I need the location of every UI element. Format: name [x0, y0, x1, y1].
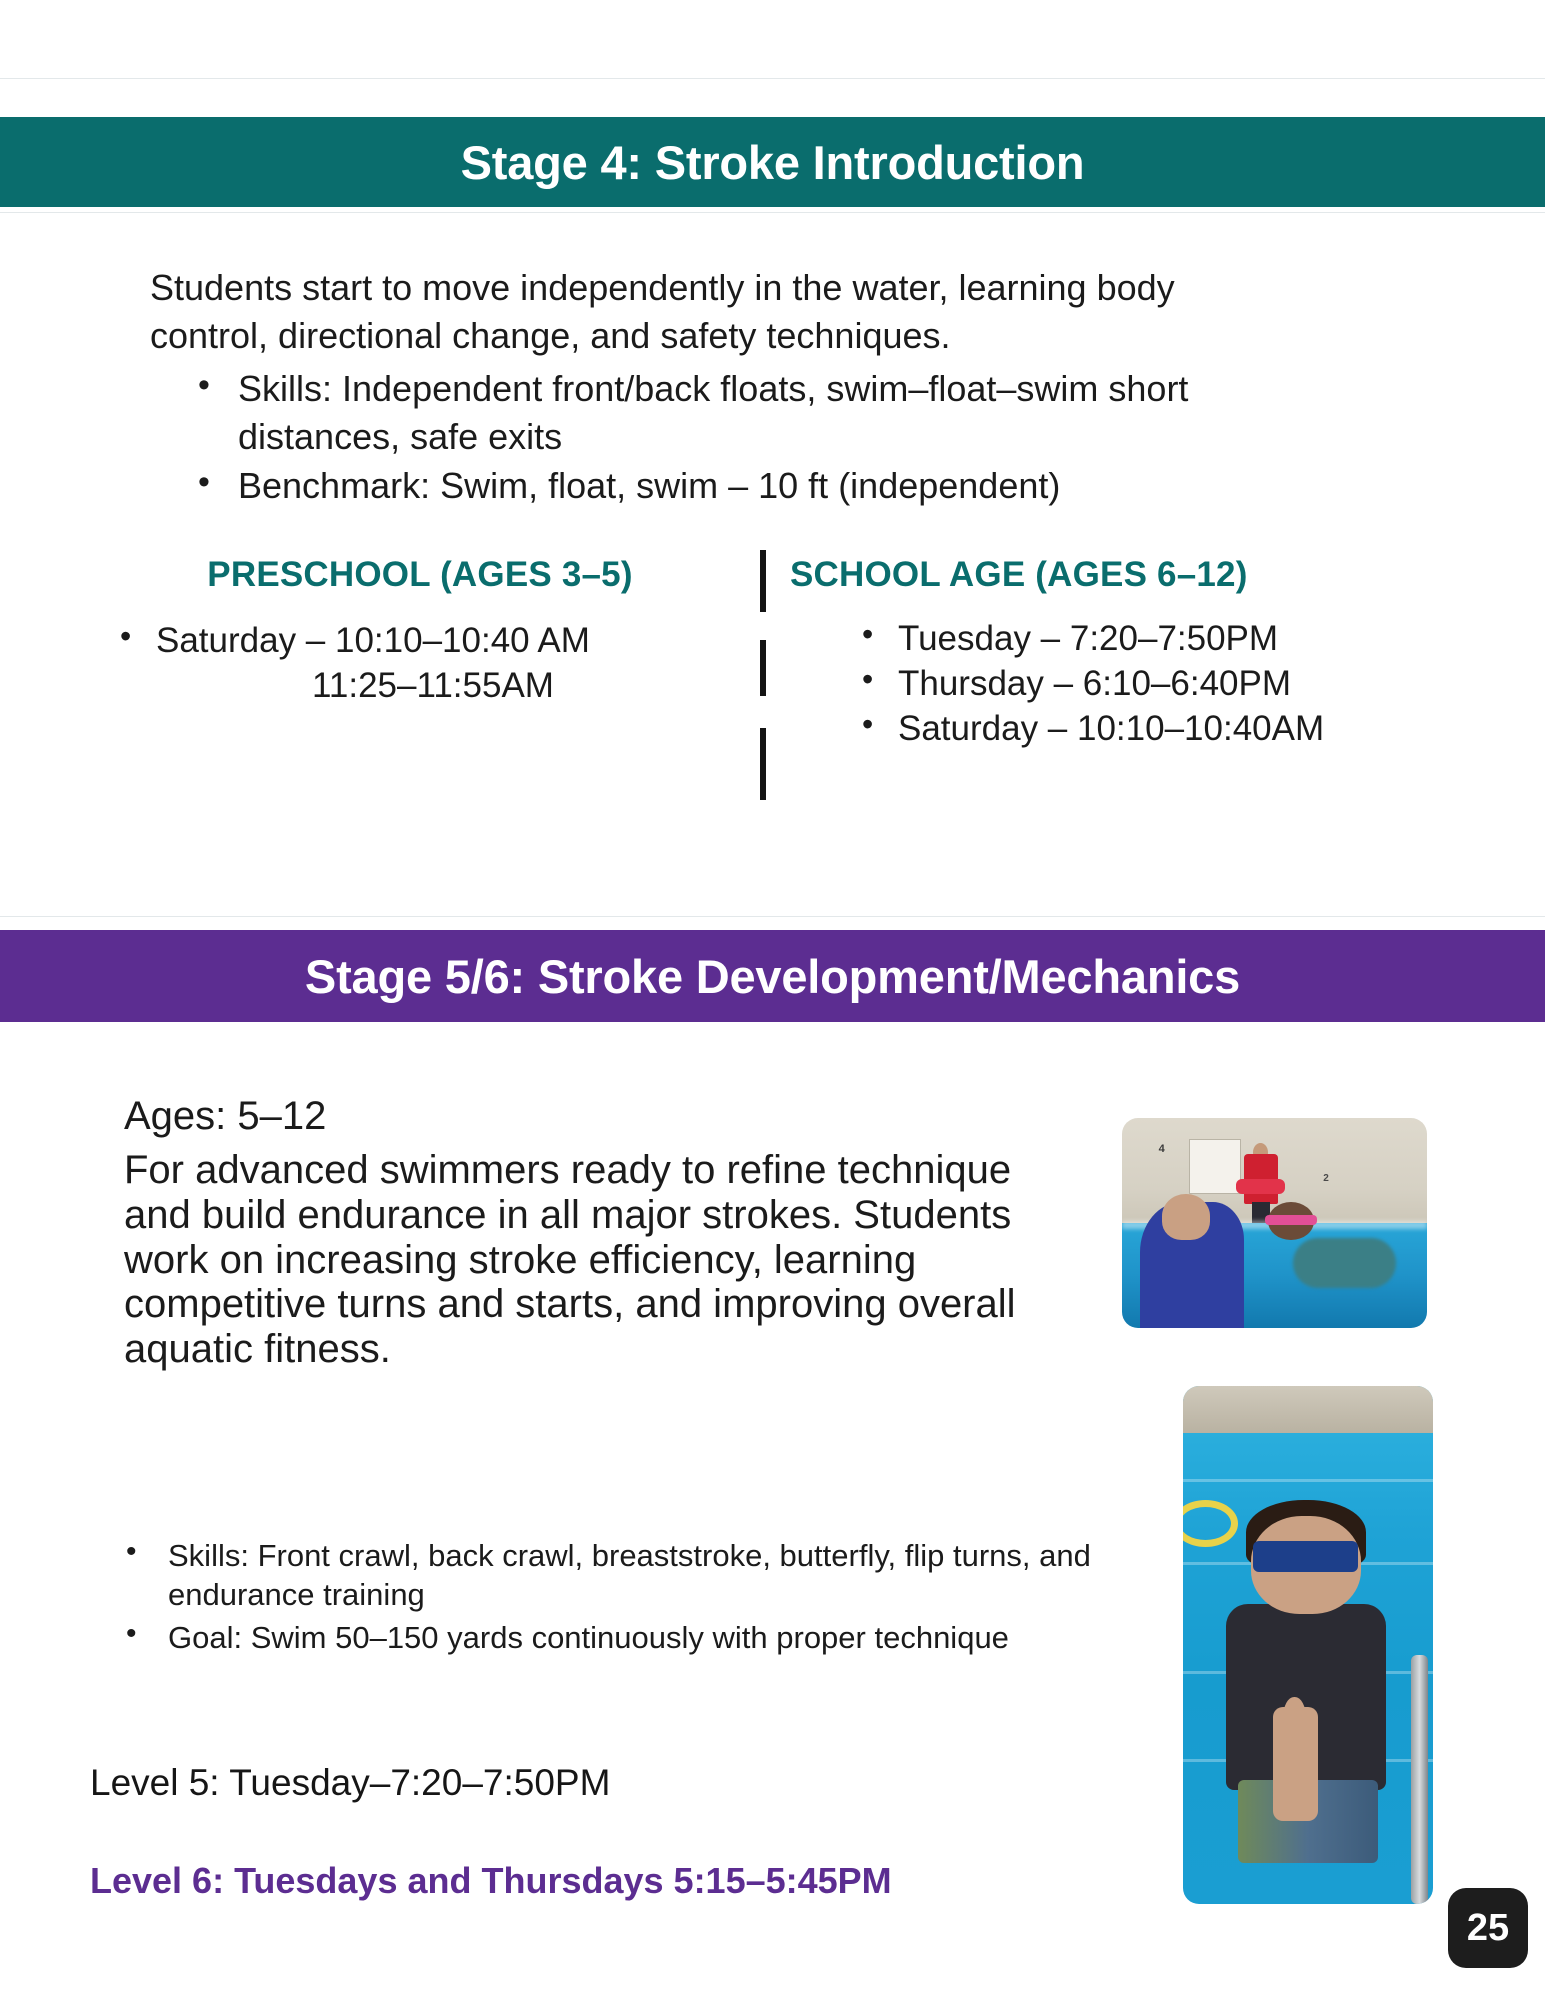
list-item: Skills: Front crawl, back crawl, breasts…	[120, 1536, 1120, 1614]
page-number-badge: 25	[1448, 1888, 1528, 1968]
divider-segment	[760, 550, 766, 612]
water-ripple	[1183, 1479, 1433, 1482]
list-item: Saturday – 10:10–10:40AM	[842, 707, 1490, 752]
list-item: Saturday – 10:10–10:40 AM 11:25–11:55AM	[100, 619, 750, 709]
top-hairline	[0, 78, 1545, 79]
child-goggles	[1265, 1215, 1317, 1226]
preschool-heading: PRESCHOOL (AGES 3–5)	[60, 555, 750, 595]
pool-deck-edge	[1183, 1386, 1433, 1433]
below-teal-hairline	[0, 212, 1545, 213]
stage4-schedule-columns: PRESCHOOL (AGES 3–5) Saturday – 10:10–10…	[0, 555, 1545, 825]
stage56-bullet-list: Skills: Front crawl, back crawl, breasts…	[120, 1536, 1120, 1661]
preschool-column: PRESCHOOL (AGES 3–5) Saturday – 10:10–10…	[60, 555, 750, 709]
schedule-time-main: Saturday – 10:10–10:40 AM	[156, 621, 590, 660]
rescue-tube	[1236, 1179, 1285, 1194]
preschool-schedule-list: Saturday – 10:10–10:40 AM 11:25–11:55AM	[100, 619, 750, 709]
stage4-intro-text: Students start to move independently in …	[150, 264, 1180, 359]
stage56-ages-line: Ages: 5–12	[124, 1095, 1004, 1138]
level6-schedule: Level 6: Tuesdays and Thursdays 5:15–5:4…	[90, 1860, 892, 1902]
instructor-head	[1162, 1194, 1211, 1240]
no-diving-sign-icon	[1189, 1139, 1241, 1194]
list-item: Goal: Swim 50–150 yards continuously wit…	[120, 1618, 1120, 1657]
list-item: Tuesday – 7:20–7:50PM	[842, 617, 1490, 662]
boy-goggles	[1253, 1541, 1358, 1572]
school-age-heading: SCHOOL AGE (AGES 6–12)	[790, 555, 1490, 595]
lane-number-2: 2	[1323, 1173, 1329, 1184]
school-age-schedule-list: Tuesday – 7:20–7:50PM Thursday – 6:10–6:…	[842, 617, 1490, 751]
list-item: Thursday – 6:10–6:40PM	[842, 662, 1490, 707]
stage56-banner: Stage 5/6: Stroke Development/Mechanics	[0, 930, 1545, 1022]
lane-number-4: 4	[1159, 1143, 1165, 1155]
stage4-banner: Stage 4: Stroke Introduction	[0, 117, 1545, 207]
above-purple-hairline	[0, 916, 1545, 917]
divider-segment	[760, 728, 766, 800]
stage56-banner-title: Stage 5/6: Stroke Development/Mechanics	[305, 949, 1240, 1004]
schedule-time-sub: 11:25–11:55AM	[156, 664, 750, 709]
school-age-column: SCHOOL AGE (AGES 6–12) Tuesday – 7:20–7:…	[790, 555, 1490, 751]
divider-segment	[760, 640, 766, 696]
list-item: Skills: Independent front/back floats, s…	[190, 365, 1240, 460]
stage56-description: For advanced swimmers ready to refine te…	[124, 1148, 1024, 1372]
stage4-banner-title: Stage 4: Stroke Introduction	[461, 135, 1085, 190]
page-number: 25	[1467, 1907, 1509, 1950]
level5-schedule: Level 5: Tuesday–7:20–7:50PM	[90, 1762, 610, 1804]
swim-instructor-photo: 4 2	[1122, 1118, 1427, 1328]
boy-thumbs-up-photo	[1183, 1386, 1433, 1904]
boy-thumb	[1283, 1697, 1306, 1738]
child-swimming-body	[1293, 1238, 1397, 1288]
column-divider	[760, 550, 766, 800]
pool-ladder-rail	[1411, 1655, 1429, 1904]
list-item: Benchmark: Swim, float, swim – 10 ft (in…	[190, 462, 1240, 510]
stage4-bullet-list: Skills: Independent front/back floats, s…	[190, 365, 1240, 512]
